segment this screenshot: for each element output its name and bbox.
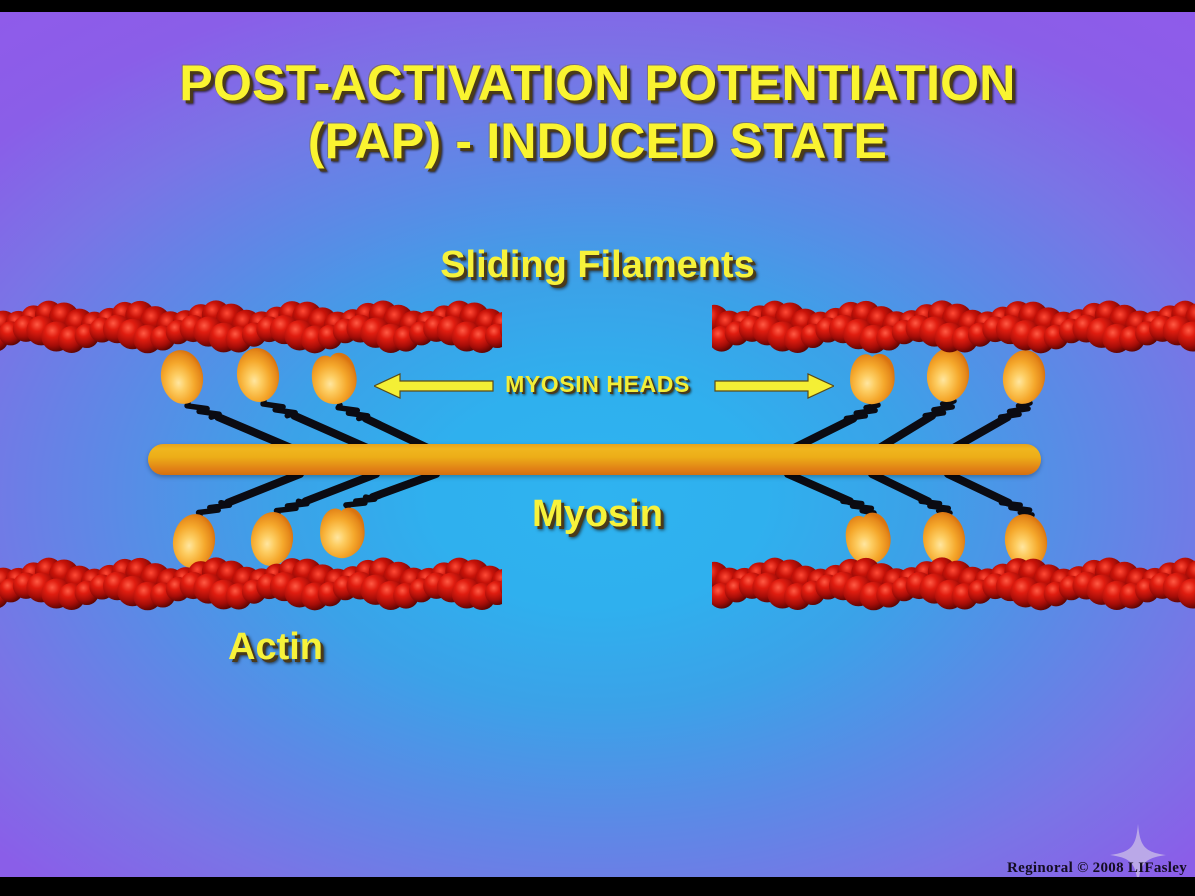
bottom-left-actin-filament [0,557,502,615]
slide-canvas: POST-ACTIVATION POTENTIATION (PAP) - IND… [0,12,1195,877]
page-title: POST-ACTIVATION POTENTIATION (PAP) - IND… [0,54,1195,170]
myosin-neck-spring [187,403,219,417]
myosin-label: Myosin [0,493,1195,536]
actin-label: Actin [228,626,323,669]
subtitle-sliding-filaments: Sliding Filaments [0,244,1195,287]
top-right-actin-filament [712,300,1195,358]
myosin-filament-rod [148,444,1041,475]
myosin-head-unit [790,351,897,450]
top-left-actin-filament [0,300,502,358]
myosin-head-unit [310,352,432,450]
bottom-right-actin-filament [712,557,1195,615]
slide-root: POST-ACTIVATION POTENTIATION (PAP) - IND… [0,0,1195,896]
myosin-heads-label: MYOSIN HEADS [0,371,1195,398]
myosin-neck-spring [263,401,295,416]
letterbox-bottom [0,877,1195,896]
copyright-notice: Reginoral © 2008 LIFasley [1007,860,1187,877]
letterbox-top [0,0,1195,12]
